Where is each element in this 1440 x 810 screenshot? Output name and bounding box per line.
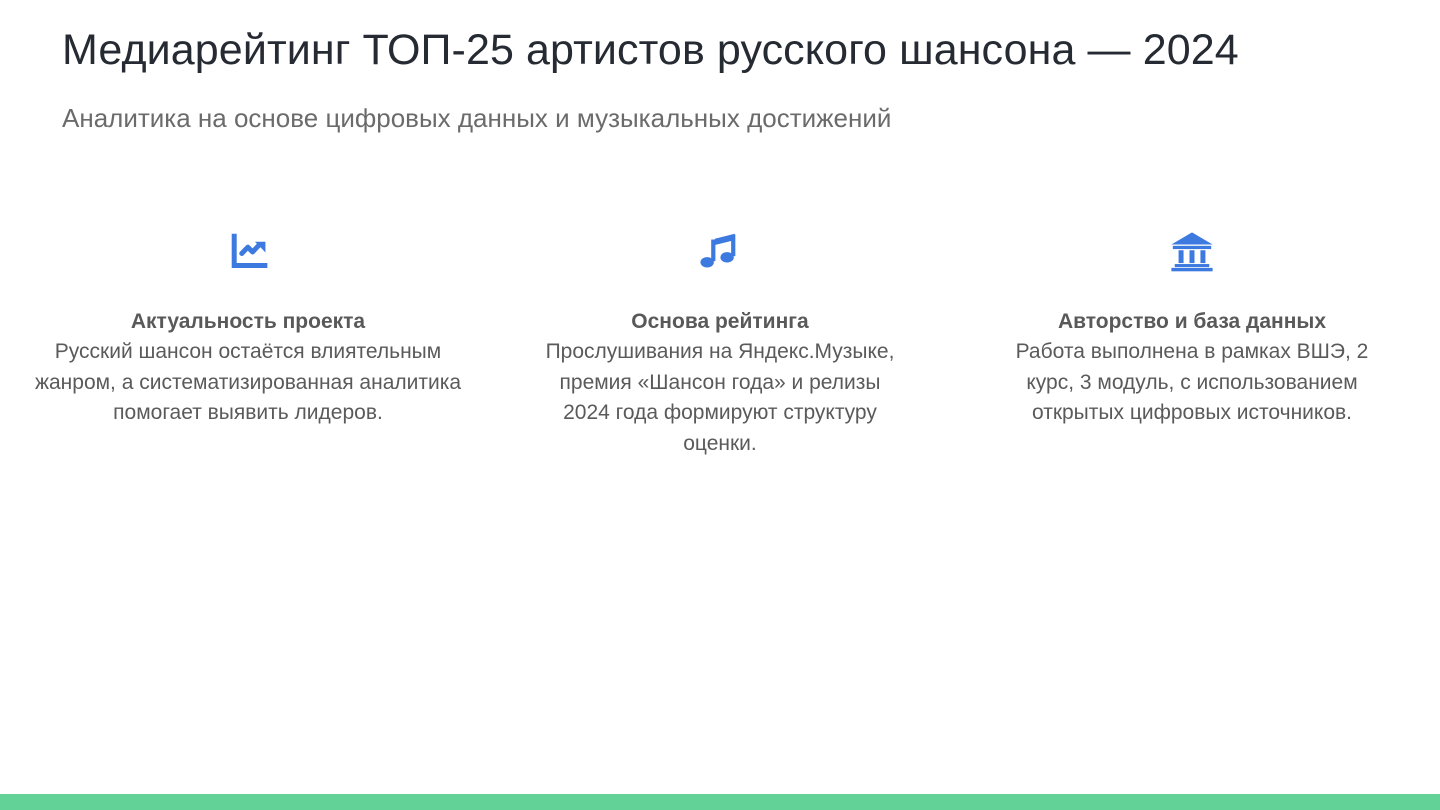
slide-root: Медиарейтинг ТОП-25 артистов русского ша… — [0, 0, 1440, 810]
feature-heading: Авторство и база данных — [1058, 307, 1326, 337]
bank-institution-icon — [1169, 225, 1215, 277]
feature-column-authorship: Авторство и база данных Работа выполнена… — [970, 225, 1414, 429]
music-note-icon — [697, 225, 743, 277]
feature-body: Работа выполнена в рамках ВШЭ, 2 курс, 3… — [1007, 337, 1377, 428]
footer-accent-bar — [0, 794, 1440, 810]
feature-column-relevance: Актуальность проекта Русский шансон оста… — [26, 225, 470, 429]
page-title: Медиарейтинг ТОП-25 артистов русского ша… — [62, 24, 1382, 76]
page-subtitle: Аналитика на основе цифровых данных и му… — [62, 76, 1382, 136]
feature-body: Прослушивания на Яндекс.Музыке, премия «… — [540, 337, 900, 459]
feature-columns: Актуальность проекта Русский шансон оста… — [0, 225, 1440, 459]
feature-heading: Актуальность проекта — [131, 307, 365, 337]
chart-line-up-icon — [225, 225, 271, 277]
feature-body: Русский шансон остаётся влиятельным жанр… — [32, 337, 464, 428]
feature-column-rating-basis: Основа рейтинга Прослушивания на Яндекс.… — [498, 225, 942, 459]
title-block: Медиарейтинг ТОП-25 артистов русского ша… — [62, 24, 1382, 136]
feature-heading: Основа рейтинга — [631, 307, 808, 337]
